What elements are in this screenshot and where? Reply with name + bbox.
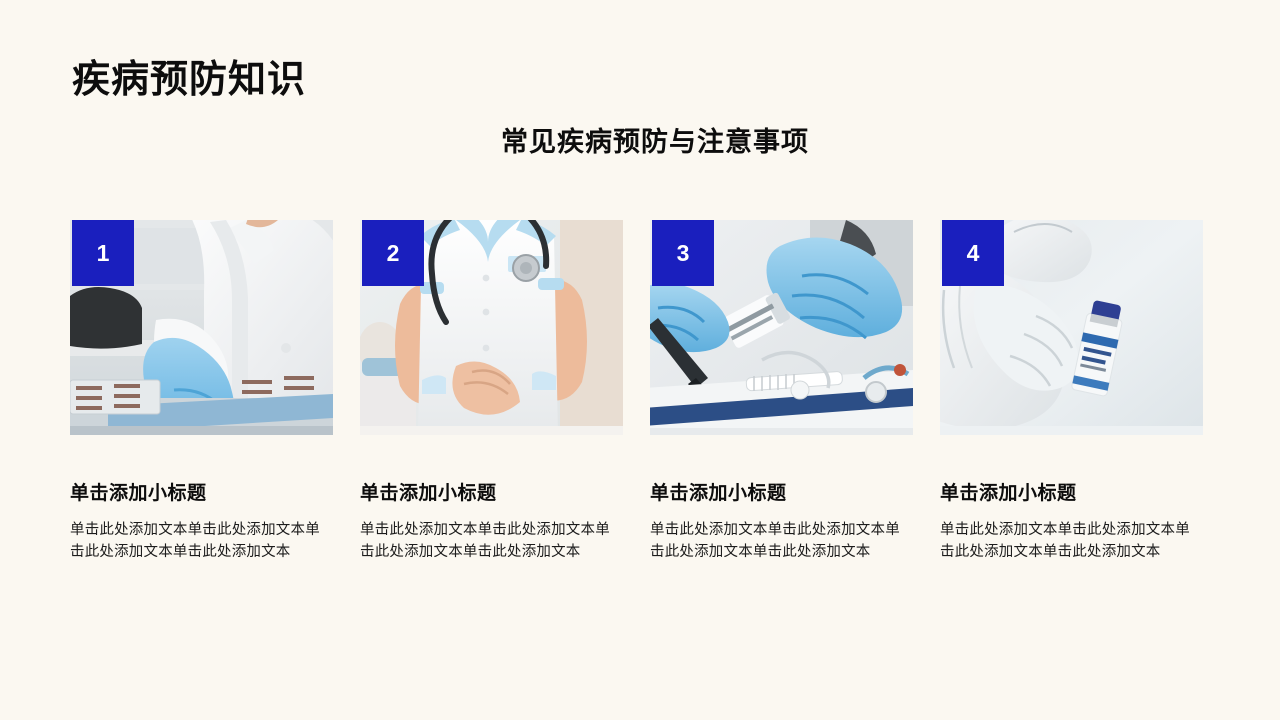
page-subtitle: 常见疾病预防与注意事项 [0, 124, 1280, 160]
card-2-image: 2 [360, 220, 623, 435]
slide-root: 疾病预防知识 常见疾病预防与注意事项 [0, 0, 1280, 720]
card-3-heading: 单击添加小标题 [650, 481, 913, 507]
card-2-heading: 单击添加小标题 [360, 481, 623, 507]
card-1-heading: 单击添加小标题 [70, 481, 333, 507]
card-4[interactable]: 4 单击添加小标题 单击此处添加文本单击此处添加文本单击此处添加文本单击此处添加… [940, 220, 1203, 563]
card-4-image: 4 [940, 220, 1203, 435]
page-title: 疾病预防知识 [72, 56, 306, 104]
card-1-image: 1 [70, 220, 333, 435]
card-2-body: 单击此处添加文本单击此处添加文本单击此处添加文本单击此处添加文本 [360, 519, 610, 563]
card-3-badge: 3 [652, 220, 714, 286]
card-4-heading: 单击添加小标题 [940, 481, 1203, 507]
card-2-badge: 2 [362, 220, 424, 286]
card-1-body: 单击此处添加文本单击此处添加文本单击此处添加文本单击此处添加文本 [70, 519, 320, 563]
card-3-image: 3 [650, 220, 913, 435]
card-4-badge: 4 [942, 220, 1004, 286]
card-3[interactable]: 3 单击添加小标题 单击此处添加文本单击此处添加文本单击此处添加文本单击此处添加… [650, 220, 913, 563]
card-3-body: 单击此处添加文本单击此处添加文本单击此处添加文本单击此处添加文本 [650, 519, 900, 563]
card-1[interactable]: 1 单击添加小标题 单击此处添加文本单击此处添加文本单击此处添加文本单击此处添加… [70, 220, 333, 563]
card-2[interactable]: 2 单击添加小标题 单击此处添加文本单击此处添加文本单击此处添加文本单击此处添加… [360, 220, 623, 563]
cards-row: 1 单击添加小标题 单击此处添加文本单击此处添加文本单击此处添加文本单击此处添加… [70, 220, 1210, 563]
card-1-badge: 1 [72, 220, 134, 286]
card-4-body: 单击此处添加文本单击此处添加文本单击此处添加文本单击此处添加文本 [940, 519, 1190, 563]
